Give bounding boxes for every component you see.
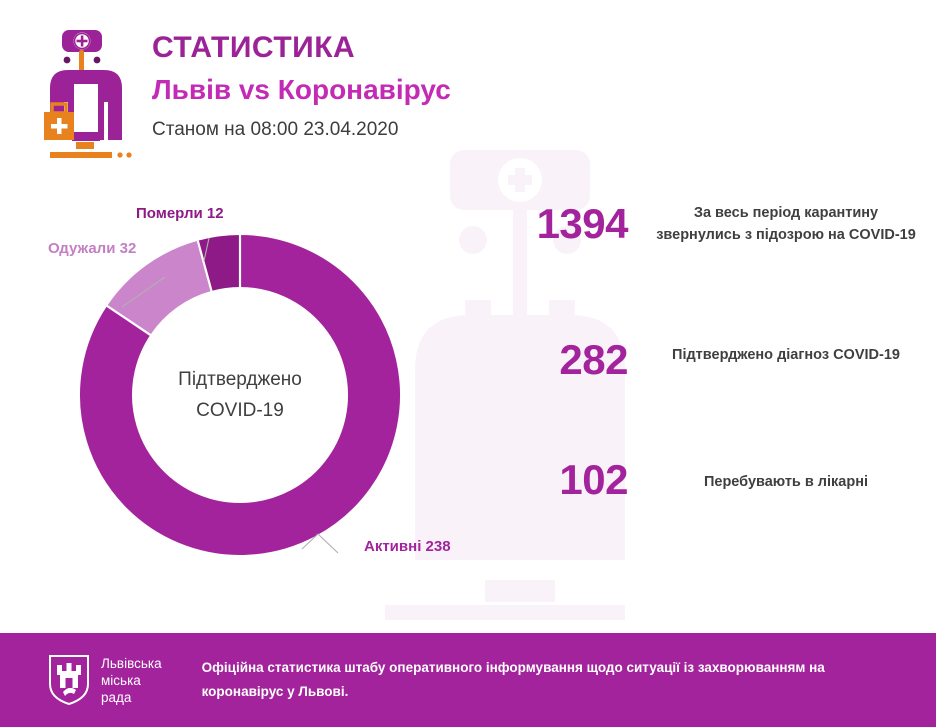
doctor-icon — [32, 26, 140, 166]
donut-segment-died — [205, 261, 240, 266]
stat-row: 282 Підтверджено діагноз COVID-19 — [478, 336, 918, 384]
stat-row: 1394 За весь період карантину звернулись… — [478, 200, 918, 248]
page-subtitle: Львів vs Коронавірус — [152, 70, 451, 110]
footer: Львівська міська рада Офіційна статистик… — [0, 633, 936, 727]
stat-value-confirmed: 282 — [478, 336, 628, 384]
timestamp-line: Станом на 08:00 23.04.2020 — [152, 116, 451, 144]
stat-label-confirmed: Підтверджено діагноз COVID-19 — [628, 336, 918, 366]
donut-segment-recovered — [129, 266, 205, 321]
donut-label-active: Активні 238 — [364, 538, 451, 555]
stat-value-hospitalized: 102 — [478, 456, 628, 504]
stats-panel: 1394 За весь період карантину звернулись… — [478, 190, 918, 504]
footer-note: Офіційна статистика штабу оперативного і… — [202, 656, 842, 704]
stat-label-tested: За весь період карантину звернулись з пі… — [628, 200, 918, 246]
lviv-coat-of-arms-icon — [48, 654, 90, 706]
donut-label-died: Померли 12 — [136, 205, 224, 222]
org-name-line3: рада — [101, 689, 162, 706]
donut-label-recovered: Одужали 32 — [48, 240, 136, 257]
title-block: СТАТИСТИКА Львів vs Коронавірус Станом н… — [152, 30, 451, 144]
stat-label-hospitalized: Перебувають в лікарні — [628, 456, 918, 493]
donut-svg — [70, 225, 410, 565]
infographic-page: СТАТИСТИКА Львів vs Коронавірус Станом н… — [0, 0, 936, 727]
header: СТАТИСТИКА Львів vs Коронавірус Станом н… — [0, 0, 936, 175]
org-name-line2: міська — [101, 672, 162, 689]
org-name-line1: Львівська — [101, 655, 162, 672]
stat-value-tested: 1394 — [478, 200, 628, 248]
donut-chart: Підтверджено COVID-19 Померли 12 Одужали… — [70, 205, 430, 575]
org-name: Львівська міська рада — [101, 655, 162, 706]
stat-row: 102 Перебувають в лікарні — [478, 456, 918, 504]
page-title: СТАТИСТИКА — [152, 30, 451, 66]
